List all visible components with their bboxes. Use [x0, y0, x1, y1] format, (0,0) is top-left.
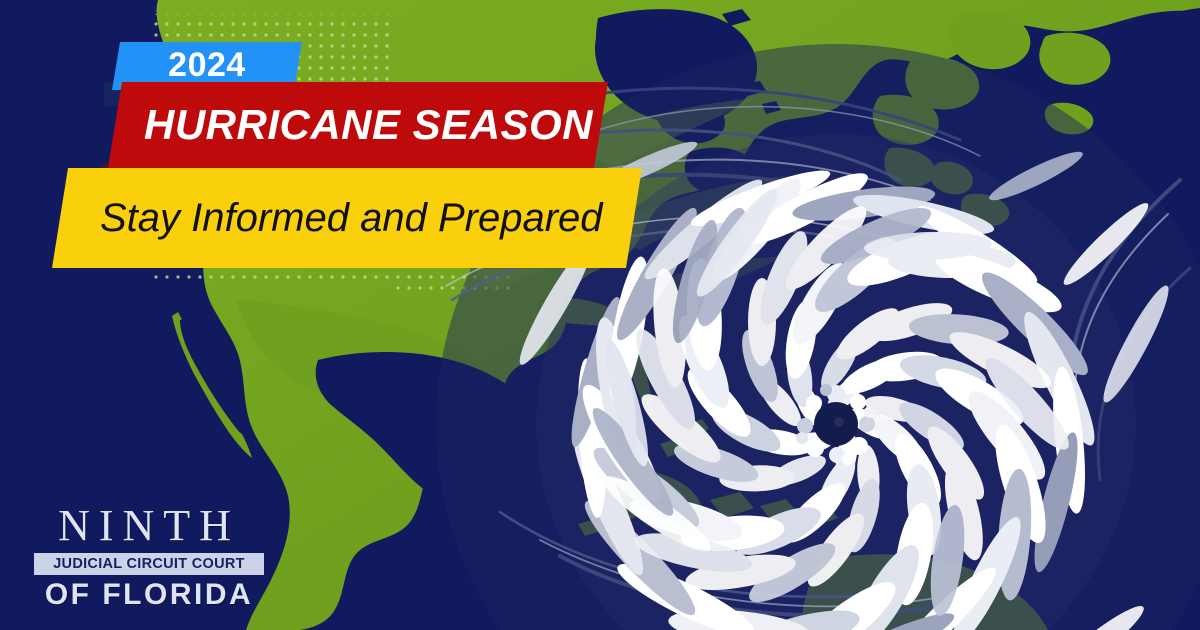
- logo-line-judicial-circuit-court: JUDICIAL CIRCUIT COURT: [34, 553, 264, 576]
- subtitle-label: Stay Informed and Prepared: [100, 198, 603, 238]
- ninth-judicial-circuit-court-logo: NINTH JUDICIAL CIRCUIT COURT OF FLORIDA: [34, 504, 264, 611]
- title-banner: HURRICANE SEASON: [108, 82, 608, 168]
- logo-line-ninth: NINTH: [34, 504, 264, 548]
- year-label: 2024: [168, 48, 246, 84]
- hurricane-season-poster: 2024 HURRICANE SEASON Stay Informed and …: [0, 0, 1200, 630]
- title-label: HURRICANE SEASON: [144, 104, 593, 146]
- subtitle-banner: Stay Informed and Prepared: [52, 168, 642, 268]
- logo-line-of-florida: OF FLORIDA: [34, 580, 264, 610]
